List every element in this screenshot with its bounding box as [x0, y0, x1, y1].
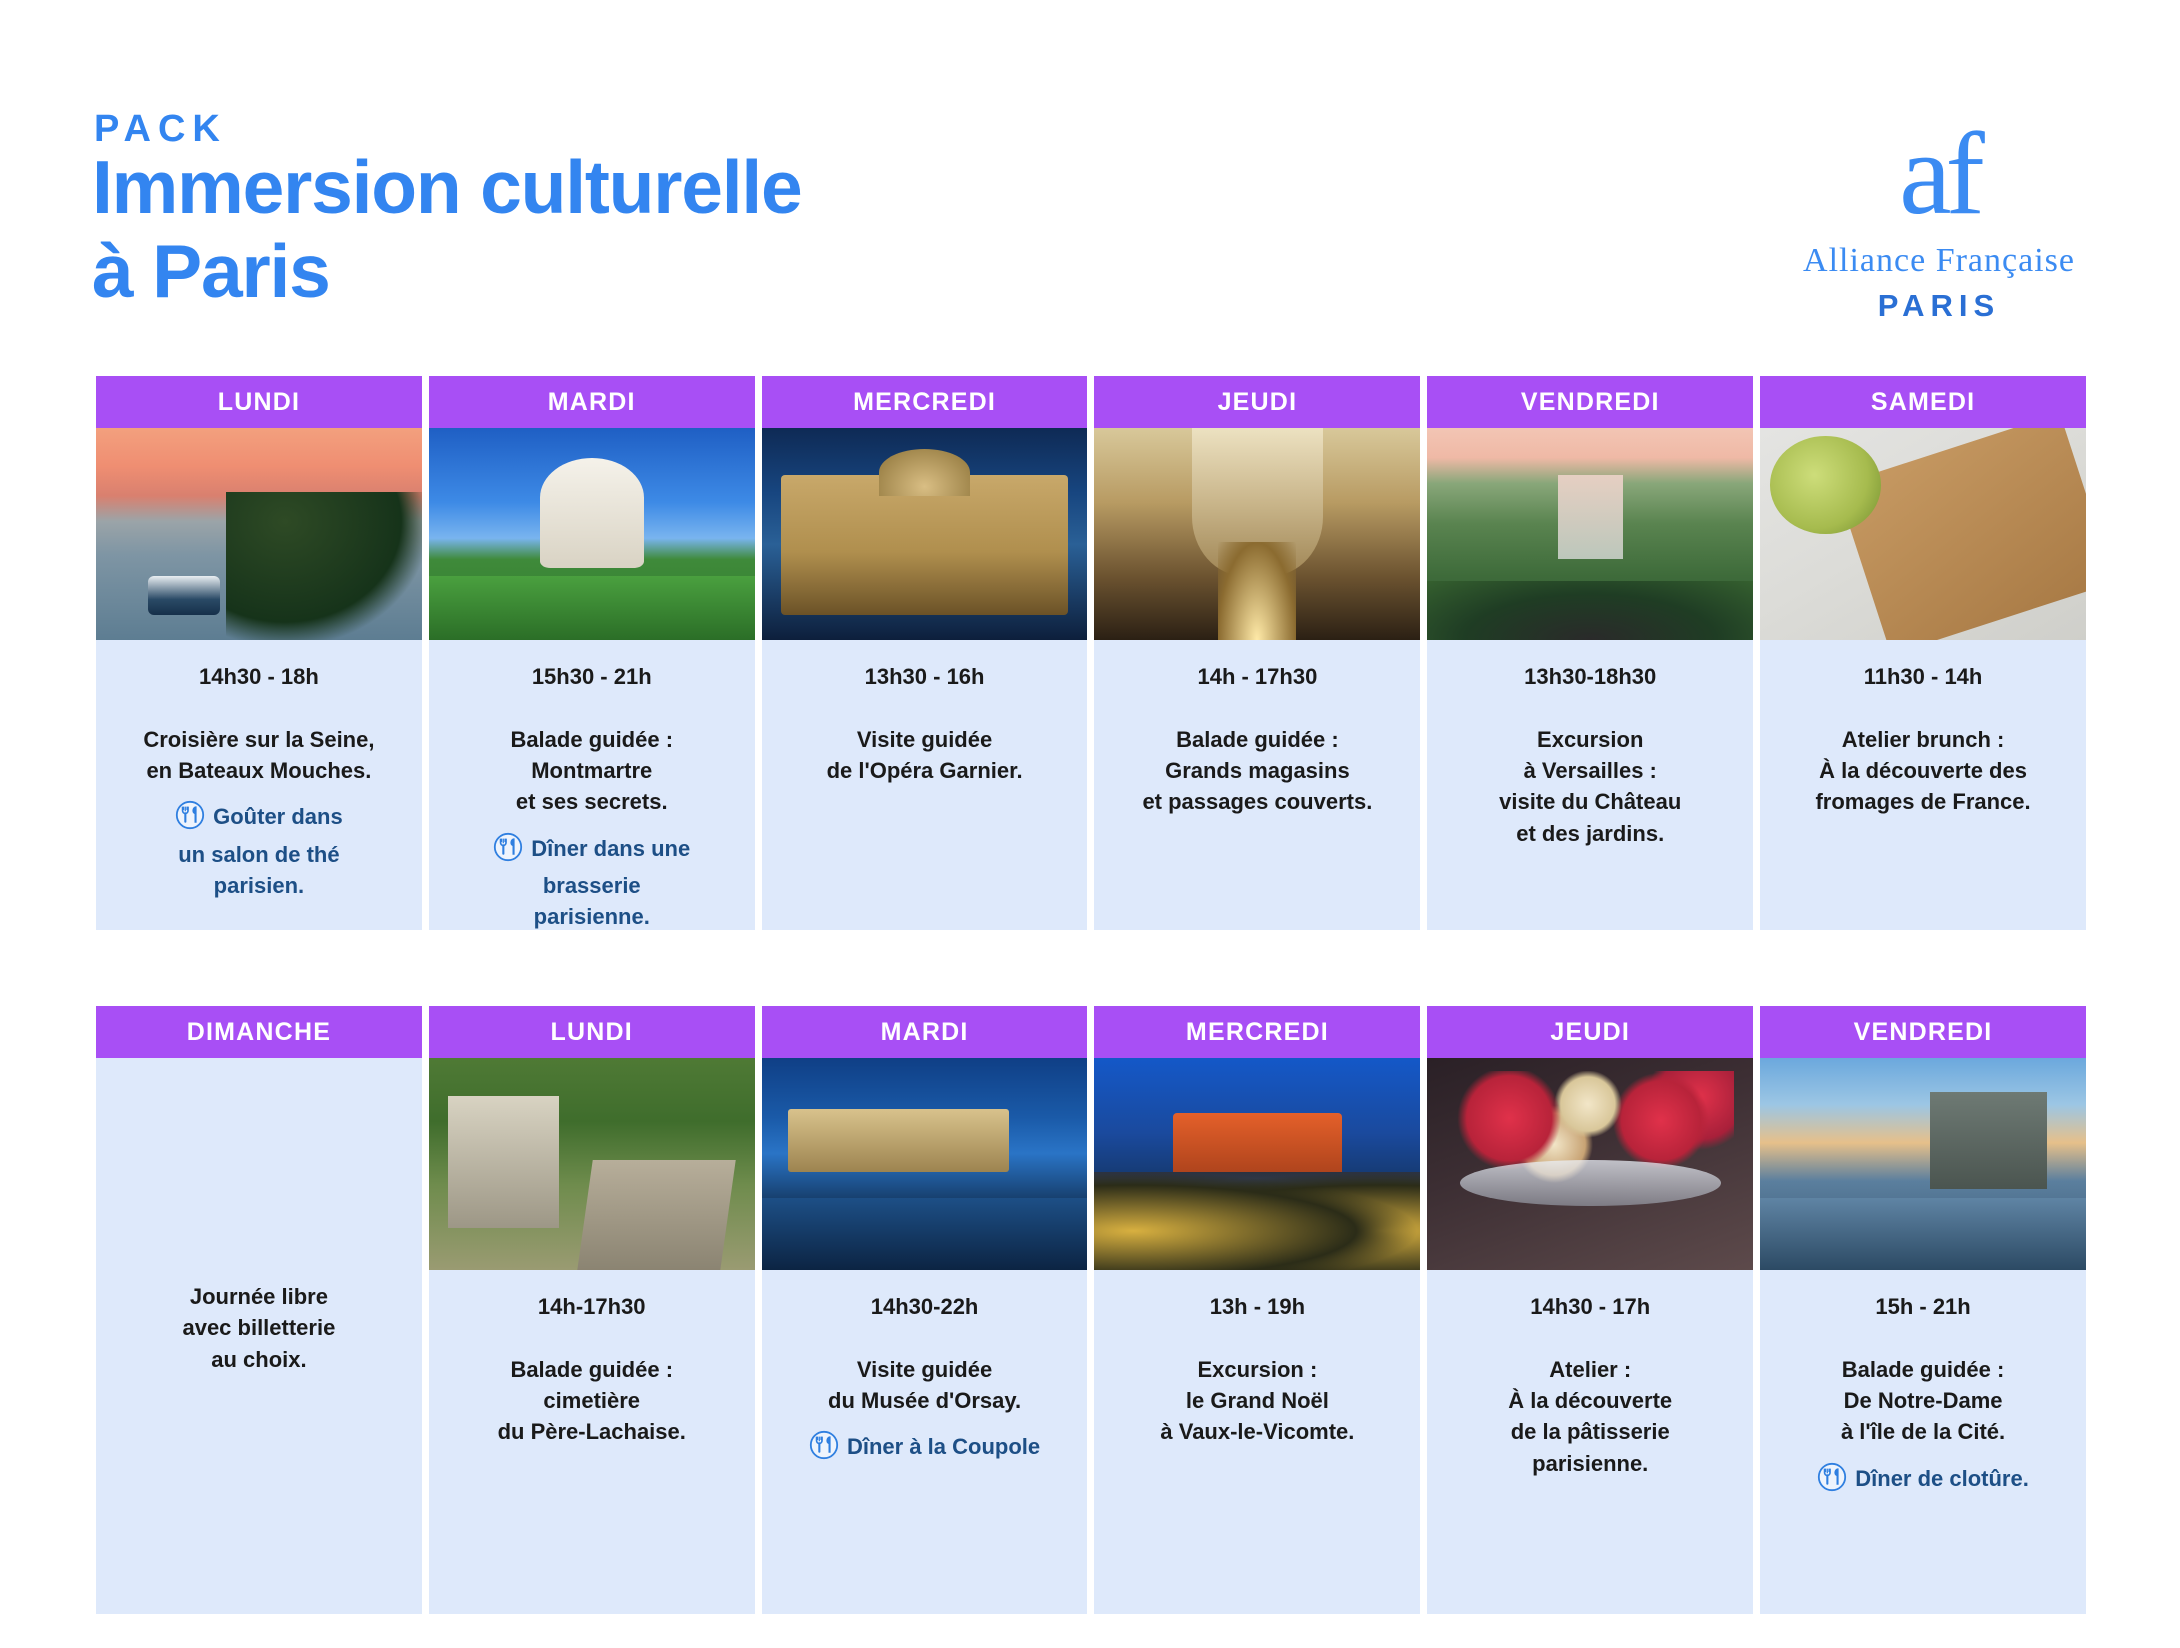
- activity-description: Atelier : À la découverte de la pâtisser…: [1441, 1354, 1739, 1479]
- activity-description: Balade guidée : Grands magasins et passa…: [1108, 724, 1406, 818]
- logo-organisation-name: Alliance Française: [1794, 242, 2084, 280]
- day-body: 15h30 - 21hBalade guidée : Montmartre et…: [429, 428, 755, 930]
- cutlery-icon: [493, 832, 523, 870]
- activity-description: Croisière sur la Seine, en Bateaux Mouch…: [110, 724, 408, 786]
- day-body: 14h-17h30Balade guidée : cimetière du Pè…: [429, 1058, 755, 1614]
- alliance-francaise-logo: af Alliance Française PARIS: [1794, 118, 2084, 324]
- pere-lachaise-photo: [429, 1058, 755, 1270]
- day-body: 14h30 - 18hCroisière sur la Seine, en Ba…: [96, 428, 422, 930]
- day-header-jeudi: JEUDI: [1427, 1006, 1753, 1058]
- activity-time: 13h - 19h: [1108, 1294, 1406, 1320]
- cutlery-icon: [175, 800, 205, 838]
- day-column: VENDREDI13h30-18h30Excursion à Versaille…: [1427, 376, 1753, 930]
- meal-note: Dîner dans une brasserie parisienne.: [443, 832, 741, 933]
- day-header-dimanche: DIMANCHE: [96, 1006, 422, 1058]
- activity-time: 11h30 - 14h: [1774, 664, 2072, 690]
- activity-time: 13h30 - 16h: [776, 664, 1074, 690]
- day-body: 14h - 17h30Balade guidée : Grands magasi…: [1094, 428, 1420, 930]
- day-body: Journée libre avec billetterie au choix.: [96, 1058, 422, 1614]
- day-text-block: 15h30 - 21hBalade guidée : Montmartre et…: [429, 640, 755, 948]
- activity-time: 14h-17h30: [443, 1294, 741, 1320]
- meal-note: Dîner à la Coupole: [776, 1430, 1074, 1468]
- photo-art: [96, 428, 422, 640]
- day-body: 14h30 - 17hAtelier : À la découverte de …: [1427, 1058, 1753, 1614]
- day-text-block: 14h30-22hVisite guidée du Musée d'Orsay.…: [762, 1270, 1088, 1614]
- logo-city-name: PARIS: [1794, 288, 2084, 324]
- af-monogram-text: af: [1899, 115, 1979, 233]
- day-column: MARDI14h30-22hVisite guidée du Musée d'O…: [762, 1006, 1088, 1614]
- day-column: LUNDI14h30 - 18hCroisière sur la Seine, …: [96, 376, 422, 930]
- cutlery-icon: [809, 1430, 839, 1468]
- day-column: DIMANCHEJournée libre avec billetterie a…: [96, 1006, 422, 1614]
- day-text-block: 15h - 21hBalade guidée : De Notre-Dame à…: [1760, 1270, 2086, 1614]
- day-text-block: 14h30 - 17hAtelier : À la découverte de …: [1427, 1270, 1753, 1614]
- day-body: 13h30 - 16hVisite guidée de l'Opéra Garn…: [762, 428, 1088, 930]
- meal-label: Dîner de clotûre.: [1855, 1466, 2029, 1491]
- day-column: MERCREDI13h30 - 16hVisite guidée de l'Op…: [762, 376, 1088, 930]
- patisserie-photo: [1427, 1058, 1753, 1270]
- activity-description: Journée libre avec billetterie au choix.: [110, 1281, 408, 1375]
- day-column: MARDI15h30 - 21hBalade guidée : Montmart…: [429, 376, 755, 930]
- seine-cruise-photo: [96, 428, 422, 640]
- photo-art: [429, 1058, 755, 1270]
- activity-description: Excursion à Versailles : visite du Châte…: [1441, 724, 1739, 849]
- af-monogram-icon: af: [1794, 118, 2084, 230]
- day-header-jeudi: JEUDI: [1094, 376, 1420, 428]
- photo-art: [1094, 1058, 1420, 1270]
- activity-description: Balade guidée : De Notre-Dame à l'île de…: [1774, 1354, 2072, 1448]
- activity-description: Excursion : le Grand Noël à Vaux-le-Vico…: [1108, 1354, 1406, 1448]
- day-column: SAMEDI11h30 - 14hAtelier brunch : À la d…: [1760, 376, 2086, 930]
- meal-note: Goûter dans un salon de thé parisien.: [110, 800, 408, 901]
- day-body: 13h - 19hExcursion : le Grand Noël à Vau…: [1094, 1058, 1420, 1614]
- activity-time: 14h30-22h: [776, 1294, 1074, 1320]
- activity-time: 13h30-18h30: [1441, 664, 1739, 690]
- day-header-mercredi: MERCREDI: [1094, 1006, 1420, 1058]
- day-body: 11h30 - 14hAtelier brunch : À la découve…: [1760, 428, 2086, 930]
- day-text-block: Journée libre avec billetterie au choix.: [96, 1058, 422, 1614]
- day-header-lundi: LUNDI: [96, 376, 422, 428]
- photo-art: [429, 428, 755, 640]
- day-body: 15h - 21hBalade guidée : De Notre-Dame à…: [1760, 1058, 2086, 1614]
- activity-time: 14h - 17h30: [1108, 664, 1406, 690]
- activity-description: Visite guidée de l'Opéra Garnier.: [776, 724, 1074, 786]
- day-column: LUNDI14h-17h30Balade guidée : cimetière …: [429, 1006, 755, 1614]
- activity-description: Atelier brunch : À la découverte des fro…: [1774, 724, 2072, 818]
- day-header-mardi: MARDI: [429, 376, 755, 428]
- notre-dame-photo: [1760, 1058, 2086, 1270]
- versailles-gardens-photo: [1427, 428, 1753, 640]
- day-column: MERCREDI13h - 19hExcursion : le Grand No…: [1094, 1006, 1420, 1614]
- passage-couvert-photo: [1094, 428, 1420, 640]
- page-title: Immersion culturelle à Paris: [92, 145, 802, 313]
- activity-time: 14h30 - 17h: [1441, 1294, 1739, 1320]
- week-1-schedule: LUNDI14h30 - 18hCroisière sur la Seine, …: [96, 376, 2086, 930]
- opera-garnier-photo: [762, 428, 1088, 640]
- day-column: JEUDI14h30 - 17hAtelier : À la découvert…: [1427, 1006, 1753, 1614]
- photo-art: [1094, 428, 1420, 640]
- day-header-mardi: MARDI: [762, 1006, 1088, 1058]
- cheese-board-photo: [1760, 428, 2086, 640]
- meal-label: Dîner dans une brasserie parisienne.: [531, 836, 690, 929]
- vaux-le-vicomte-photo: [1094, 1058, 1420, 1270]
- activity-time: 14h30 - 18h: [110, 664, 408, 690]
- day-column: VENDREDI15h - 21hBalade guidée : De Notr…: [1760, 1006, 2086, 1614]
- day-text-block: 13h30-18h30Excursion à Versailles : visi…: [1427, 640, 1753, 930]
- day-text-block: 14h-17h30Balade guidée : cimetière du Pè…: [429, 1270, 755, 1614]
- day-header-lundi: LUNDI: [429, 1006, 755, 1058]
- meal-note: Dîner de clotûre.: [1774, 1462, 2072, 1500]
- cutlery-icon: [1817, 1462, 1847, 1500]
- week-2-schedule: DIMANCHEJournée libre avec billetterie a…: [96, 1006, 2086, 1614]
- photo-art: [762, 1058, 1088, 1270]
- photo-art: [1427, 1058, 1753, 1270]
- day-header-vendredi: VENDREDI: [1427, 376, 1753, 428]
- day-text-block: 13h30 - 16hVisite guidée de l'Opéra Garn…: [762, 640, 1088, 930]
- day-body: 14h30-22hVisite guidée du Musée d'Orsay.…: [762, 1058, 1088, 1614]
- day-column: JEUDI14h - 17h30Balade guidée : Grands m…: [1094, 376, 1420, 930]
- day-header-vendredi: VENDREDI: [1760, 1006, 2086, 1058]
- activity-description: Visite guidée du Musée d'Orsay.: [776, 1354, 1074, 1416]
- day-text-block: 14h - 17h30Balade guidée : Grands magasi…: [1094, 640, 1420, 930]
- day-body: 13h30-18h30Excursion à Versailles : visi…: [1427, 428, 1753, 930]
- photo-art: [1760, 1058, 2086, 1270]
- sacre-coeur-photo: [429, 428, 755, 640]
- day-header-mercredi: MERCREDI: [762, 376, 1088, 428]
- page-header: PACK Immersion culturelle à Paris af All…: [0, 0, 2180, 360]
- activity-description: Balade guidée : Montmartre et ses secret…: [443, 724, 741, 818]
- meal-label: Dîner à la Coupole: [847, 1434, 1040, 1459]
- day-header-samedi: SAMEDI: [1760, 376, 2086, 428]
- activity-time: 15h30 - 21h: [443, 664, 741, 690]
- activity-description: Balade guidée : cimetière du Père-Lachai…: [443, 1354, 741, 1448]
- activity-time: 15h - 21h: [1774, 1294, 2072, 1320]
- musee-orsay-photo: [762, 1058, 1088, 1270]
- day-text-block: 11h30 - 14hAtelier brunch : À la découve…: [1760, 640, 2086, 930]
- day-text-block: 13h - 19hExcursion : le Grand Noël à Vau…: [1094, 1270, 1420, 1614]
- day-text-block: 14h30 - 18hCroisière sur la Seine, en Ba…: [96, 640, 422, 930]
- photo-art: [762, 428, 1088, 640]
- photo-art: [1427, 428, 1753, 640]
- photo-art: [1760, 428, 2086, 640]
